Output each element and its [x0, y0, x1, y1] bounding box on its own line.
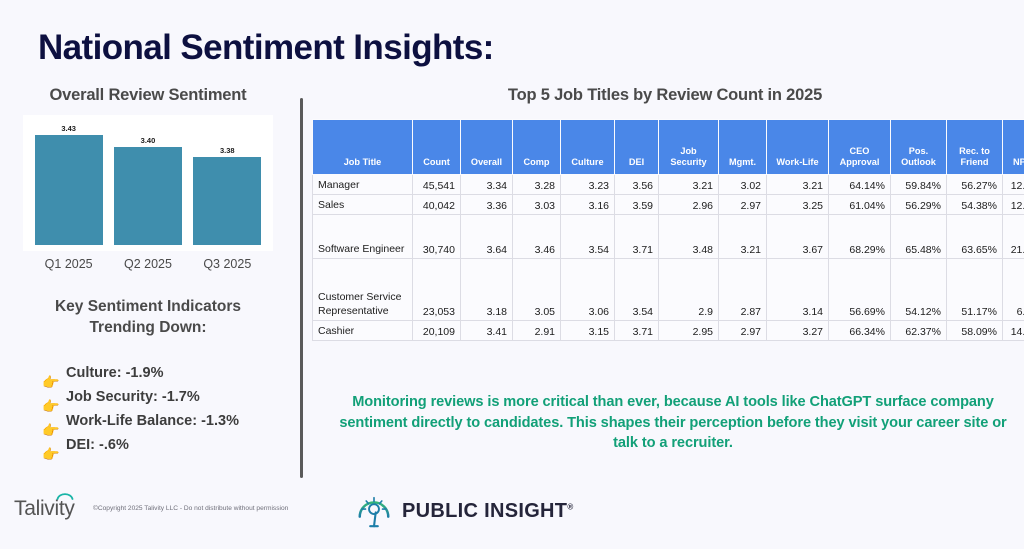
cell-count: 20,109: [413, 321, 461, 341]
column-header-mgmt[interactable]: Mgmt.: [719, 120, 767, 175]
cell-nps: 14.24: [1003, 321, 1024, 341]
column-header-job-title[interactable]: Job Title: [313, 120, 413, 175]
cell-ceo-approval: 61.04%: [829, 195, 891, 215]
x-tick-label: Q2 2025: [114, 257, 182, 271]
cell-dei: 3.54: [615, 259, 659, 321]
table-row: Sales 40,042 3.36 3.03 3.16 3.59 2.96 2.…: [313, 195, 1024, 215]
cell-job-security: 2.96: [659, 195, 719, 215]
public-insight-logo: PUBLIC INSIGHT®: [355, 492, 574, 530]
cell-pos-outlook: 65.48%: [891, 215, 947, 259]
column-header-ceo-approval[interactable]: CEO Approval: [829, 120, 891, 175]
cell-work-life: 3.67: [767, 215, 829, 259]
cell-rec-to-friend: 56.27%: [947, 175, 1003, 195]
kpi-item-label: Job Security: -1.7%: [66, 389, 200, 405]
cell-comp: 3.03: [513, 195, 561, 215]
bar-group-q3: 3.38: [193, 115, 261, 245]
lightbulb-gauge-icon: [355, 492, 393, 530]
cell-rec-to-friend: 54.38%: [947, 195, 1003, 215]
cell-work-life: 3.25: [767, 195, 829, 215]
x-tick-label: Q3 2025: [193, 257, 261, 271]
callout-text: Monitoring reviews is more critical than…: [330, 392, 1016, 454]
cell-mgmt: 2.97: [719, 195, 767, 215]
column-header-overall[interactable]: Overall: [461, 120, 513, 175]
column-header-pos-outlook[interactable]: Pos. Outlook: [891, 120, 947, 175]
cell-overall: 3.34: [461, 175, 513, 195]
cell-rec-to-friend: 63.65%: [947, 215, 1003, 259]
column-header-comp[interactable]: Comp: [513, 120, 561, 175]
table-row: Software Engineer 30,740 3.64 3.46 3.54 …: [313, 215, 1024, 259]
bar-group-q1: 3.43: [35, 115, 103, 245]
cell-pos-outlook: 62.37%: [891, 321, 947, 341]
cell-comp: 3.05: [513, 259, 561, 321]
cell-overall: 3.41: [461, 321, 513, 341]
bar-chart: 3.43 3.40 3.38: [23, 115, 273, 251]
cell-overall: 3.64: [461, 215, 513, 259]
cell-ceo-approval: 56.69%: [829, 259, 891, 321]
cell-count: 40,042: [413, 195, 461, 215]
registered-mark: ®: [567, 502, 573, 511]
job-titles-table: Job Title Count Overall Comp Culture DEI…: [312, 119, 1024, 341]
bar-group-q2: 3.40: [114, 115, 182, 245]
cell-mgmt: 3.21: [719, 215, 767, 259]
cell-mgmt: 2.97: [719, 321, 767, 341]
cell-job-title: Software Engineer: [313, 215, 413, 259]
column-header-count[interactable]: Count: [413, 120, 461, 175]
cell-comp: 3.46: [513, 215, 561, 259]
column-header-culture[interactable]: Culture: [561, 120, 615, 175]
cell-count: 23,053: [413, 259, 461, 321]
cell-nps: 12.13: [1003, 175, 1024, 195]
cell-dei: 3.71: [615, 215, 659, 259]
cell-ceo-approval: 66.34%: [829, 321, 891, 341]
cell-count: 30,740: [413, 215, 461, 259]
cell-work-life: 3.27: [767, 321, 829, 341]
cell-job-title: Manager: [313, 175, 413, 195]
cell-overall: 3.18: [461, 259, 513, 321]
kpi-heading: Key Sentiment Indicators Trending Down:: [0, 297, 296, 339]
cell-dei: 3.56: [615, 175, 659, 195]
bar-value-label: 3.40: [141, 136, 156, 145]
kpi-heading-line1: Key Sentiment Indicators: [55, 298, 241, 315]
public-insight-wordmark: PUBLIC INSIGHT®: [402, 500, 574, 523]
cell-overall: 3.36: [461, 195, 513, 215]
cell-job-security: 2.95: [659, 321, 719, 341]
bar-value-label: 3.38: [220, 146, 235, 155]
cell-job-security: 3.21: [659, 175, 719, 195]
cell-mgmt: 2.87: [719, 259, 767, 321]
x-tick-label: Q1 2025: [35, 257, 103, 271]
cell-pos-outlook: 59.84%: [891, 175, 947, 195]
table-row: Manager 45,541 3.34 3.28 3.23 3.56 3.21 …: [313, 175, 1024, 195]
cell-pos-outlook: 56.29%: [891, 195, 947, 215]
cell-job-title: Cashier: [313, 321, 413, 341]
cell-dei: 3.71: [615, 321, 659, 341]
left-panel: Overall Review Sentiment 3.43 3.40 3.38 …: [0, 86, 296, 457]
cell-comp: 3.28: [513, 175, 561, 195]
kpi-list: 👉 Culture: -1.9% 👉 Job Security: -1.7% 👉…: [0, 361, 296, 457]
column-header-job-security[interactable]: Job Security: [659, 120, 719, 175]
cell-job-security: 2.9: [659, 259, 719, 321]
table-row: Cashier 20,109 3.41 2.91 3.15 3.71 2.95 …: [313, 321, 1024, 341]
table-header-row: Job Title Count Overall Comp Culture DEI…: [313, 120, 1024, 175]
bar-chart-bars: 3.43 3.40 3.38: [23, 115, 273, 251]
pointing-right-icon: 👉: [42, 447, 59, 461]
table-title: Top 5 Job Titles by Review Count in 2025: [312, 86, 1018, 105]
talivity-logo-text: Talivity: [14, 497, 75, 521]
cell-work-life: 3.14: [767, 259, 829, 321]
list-item: 👉 Culture: -1.9%: [0, 361, 296, 385]
list-item: 👉 Job Security: -1.7%: [0, 385, 296, 409]
bar-value-label: 3.43: [61, 124, 76, 133]
bar-rect: [35, 135, 103, 245]
cell-culture: 3.54: [561, 215, 615, 259]
cell-job-security: 3.48: [659, 215, 719, 259]
cell-work-life: 3.21: [767, 175, 829, 195]
public-insight-label: PUBLIC INSIGHT: [402, 500, 567, 522]
cell-dei: 3.59: [615, 195, 659, 215]
cell-nps: 6.23: [1003, 259, 1024, 321]
right-panel: Top 5 Job Titles by Review Count in 2025…: [312, 86, 1018, 341]
cell-count: 45,541: [413, 175, 461, 195]
cell-rec-to-friend: 51.17%: [947, 259, 1003, 321]
kpi-item-label: Culture: -1.9%: [66, 365, 164, 381]
bar-rect: [114, 147, 182, 245]
cell-culture: 3.06: [561, 259, 615, 321]
bar-chart-x-axis: Q1 2025 Q2 2025 Q3 2025: [23, 257, 273, 271]
cell-ceo-approval: 68.29%: [829, 215, 891, 259]
cell-mgmt: 3.02: [719, 175, 767, 195]
column-header-rec-to-friend[interactable]: Rec. to Friend: [947, 120, 1003, 175]
table-row: Customer Service Representative 23,053 3…: [313, 259, 1024, 321]
kpi-item-label: Work-Life Balance: -1.3%: [66, 413, 239, 429]
footer: Talivity ©Copyright 2025 Talivity LLC - …: [0, 489, 1024, 549]
chart-title: Overall Review Sentiment: [0, 86, 296, 105]
cell-rec-to-friend: 58.09%: [947, 321, 1003, 341]
cell-nps: 21.53: [1003, 215, 1024, 259]
kpi-item-label: DEI: -.6%: [66, 437, 129, 453]
column-header-dei[interactable]: DEI: [615, 120, 659, 175]
vertical-divider: [300, 98, 303, 478]
copyright-text: ©Copyright 2025 Talivity LLC - Do not di…: [93, 505, 288, 512]
page-title: National Sentiment Insights:: [38, 28, 494, 68]
cell-job-title: Sales: [313, 195, 413, 215]
list-item: 👉 Work-Life Balance: -1.3%: [0, 409, 296, 433]
cell-comp: 2.91: [513, 321, 561, 341]
list-item: 👉 DEI: -.6%: [0, 433, 296, 457]
cell-nps: 12.22: [1003, 195, 1024, 215]
kpi-heading-line2: Trending Down:: [89, 319, 206, 336]
talivity-arc-icon: [56, 491, 74, 500]
bar-rect: [193, 157, 261, 245]
column-header-nps[interactable]: NPS: [1003, 120, 1024, 175]
column-header-work-life[interactable]: Work-Life: [767, 120, 829, 175]
cell-ceo-approval: 64.14%: [829, 175, 891, 195]
cell-culture: 3.16: [561, 195, 615, 215]
cell-pos-outlook: 54.12%: [891, 259, 947, 321]
cell-culture: 3.23: [561, 175, 615, 195]
cell-job-title: Customer Service Representative: [313, 259, 413, 321]
cell-culture: 3.15: [561, 321, 615, 341]
